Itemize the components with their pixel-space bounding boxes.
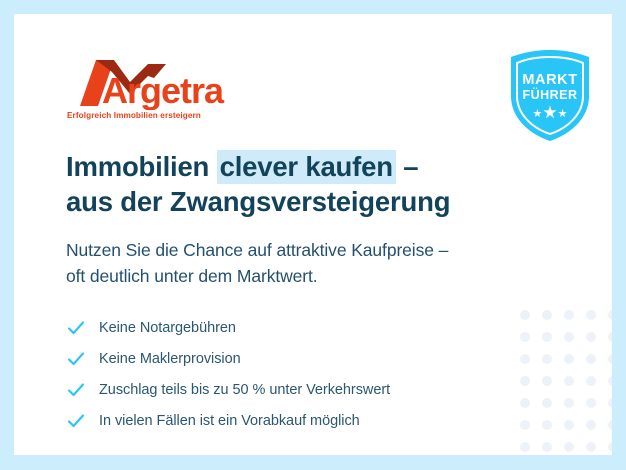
dot [564, 398, 574, 408]
headline-line2: aus der Zwangsversteigerung [66, 186, 450, 217]
dot [608, 332, 612, 342]
list-item: In vielen Fällen ist ein Vorabkauf mögli… [66, 405, 536, 436]
list-item-label: Keine Notargebühren [99, 320, 236, 336]
list-item-label: Zuschlag teils bis zu 50 % unter Verkehr… [99, 382, 390, 398]
promo-card: Argetra Erfolgreich Immobilien ersteiger… [14, 14, 612, 455]
dot [520, 442, 530, 452]
dot [542, 310, 552, 320]
dot [608, 310, 612, 320]
markt-fuehrer-badge: MARKT FÜHRER ★★★ [501, 46, 599, 144]
dot [564, 310, 574, 320]
promo-banner: Argetra Erfolgreich Immobilien ersteiger… [0, 0, 626, 470]
dot [586, 442, 596, 452]
dot [542, 354, 552, 364]
list-item: Keine Maklerprovision [66, 343, 536, 374]
dot [542, 398, 552, 408]
argetra-logo[interactable]: Argetra Erfolgreich Immobilien ersteiger… [66, 58, 266, 128]
subtitle-line1: Nutzen Sie die Chance auf attraktive Kau… [66, 240, 448, 260]
dot [542, 332, 552, 342]
check-icon [66, 318, 86, 338]
argetra-roof-a-icon: Argetra [66, 58, 266, 110]
dot [586, 376, 596, 386]
dot [564, 376, 574, 386]
dot [608, 354, 612, 364]
dot [586, 398, 596, 408]
page-subtitle: Nutzen Sie die Chance auf attraktive Kau… [66, 238, 546, 289]
check-icon [66, 349, 86, 369]
svg-text:Argetra: Argetra [102, 70, 225, 110]
dot [586, 420, 596, 430]
subtitle-line2: oft deutlich unter dem Marktwert. [66, 266, 318, 286]
dot [586, 354, 596, 364]
dot [586, 310, 596, 320]
dot [608, 376, 612, 386]
dot [542, 420, 552, 430]
logo-tagline: Erfolgreich Immobilien ersteigern [67, 111, 201, 120]
dot [542, 442, 552, 452]
dot [608, 442, 612, 452]
check-icon [66, 411, 86, 431]
page-title: Immobilien clever kaufen – aus der Zwang… [66, 150, 536, 220]
list-item: Zuschlag teils bis zu 50 % unter Verkehr… [66, 374, 536, 405]
dot [586, 332, 596, 342]
shield-badge-icon [501, 46, 599, 144]
dot [564, 332, 574, 342]
headline-line1-before: Immobilien [66, 151, 217, 182]
dot [564, 354, 574, 364]
benefits-list: Keine Notargebühren Keine Maklerprovisio… [66, 312, 536, 436]
dot [564, 420, 574, 430]
headline-highlight: clever kaufen [217, 150, 396, 184]
dot [608, 398, 612, 408]
list-item: Keine Notargebühren [66, 312, 536, 343]
list-item-label: Keine Maklerprovision [99, 351, 241, 367]
dot [564, 442, 574, 452]
dot [542, 376, 552, 386]
list-item-label: In vielen Fällen ist ein Vorabkauf mögli… [99, 413, 360, 429]
check-icon [66, 380, 86, 400]
dot [608, 420, 612, 430]
headline-line1-after: – [396, 151, 419, 182]
